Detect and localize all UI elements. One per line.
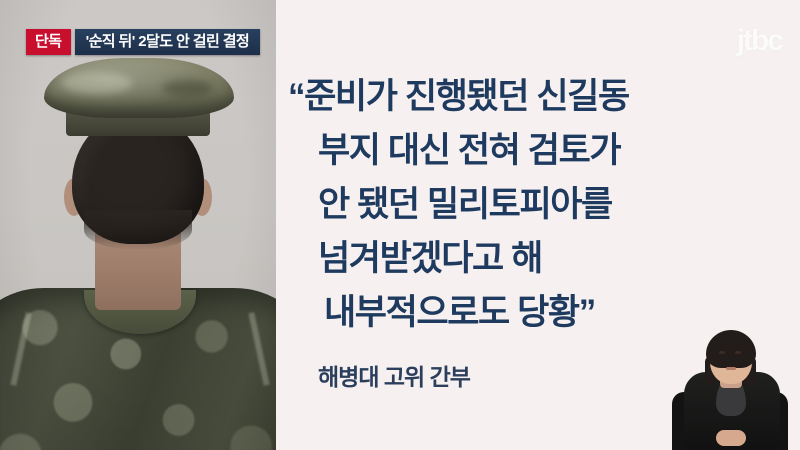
quote-line-4: 넘겨받겠다고 해 — [318, 232, 748, 286]
broadcast-screen: 단독 '순직 뒤' 2달도 안 걸린 결정 jtbc “준비가 진행됐던 신길동… — [0, 0, 800, 450]
headline-banner: 단독 '순직 뒤' 2달도 안 걸린 결정 — [26, 29, 260, 55]
soldier-figure — [0, 50, 276, 450]
interpreter-eye-right — [735, 351, 741, 354]
sign-language-interpreter — [660, 310, 800, 450]
jtbc-logo: jtbc — [737, 26, 782, 56]
interpreter-mouth — [726, 367, 736, 370]
quote-line-2: 부지 대신 전혀 검토가 — [318, 124, 748, 178]
headline-badge: '순직 뒤' 2달도 안 걸린 결정 — [75, 29, 261, 55]
soldier-photo — [0, 0, 276, 450]
interpreter-hair — [706, 330, 756, 368]
quote-attribution: 해병대 고위 간부 — [318, 358, 470, 392]
exclusive-badge: 단독 — [26, 29, 71, 55]
interpreter-hands — [716, 430, 746, 446]
interpreter-eye-left — [719, 351, 725, 354]
quote-block: “준비가 진행됐던 신길동 부지 대신 전혀 검토가 안 됐던 밀리토피아를 넘… — [288, 70, 748, 340]
quote-line-3: 안 됐던 밀리토피아를 — [318, 178, 748, 232]
military-cap-crown — [44, 58, 234, 118]
quote-line-1: “준비가 진행됐던 신길동 — [288, 70, 748, 124]
